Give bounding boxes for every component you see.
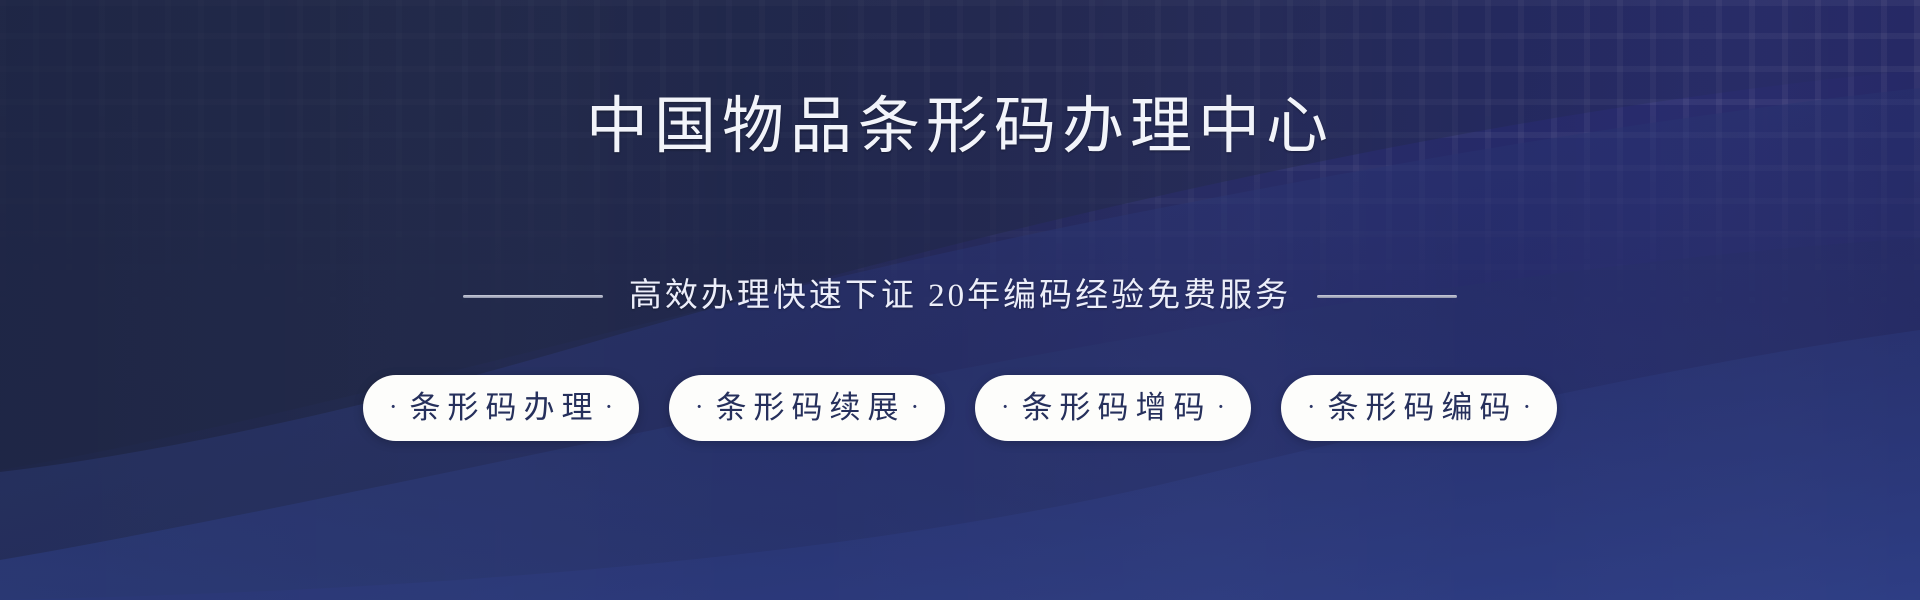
service-pill-row: · 条形码办理 · · 条形码续展 · · 条形码增码 · · 条形码编码 ·: [363, 375, 1557, 441]
right-rule-decoration: [1317, 295, 1457, 298]
bullet-dot-icon: ·: [911, 394, 920, 420]
bullet-dot-icon: ·: [695, 394, 704, 420]
bullet-dot-icon: ·: [1001, 394, 1010, 420]
banner-content: 中国物品条形码办理中心 高效办理快速下证 20年编码经验免费服务 · 条形码办理…: [0, 0, 1920, 600]
pill-label: 条形码增码: [1015, 392, 1212, 423]
pill-barcode-encode[interactable]: · 条形码编码 ·: [1281, 375, 1557, 441]
left-rule-decoration: [463, 295, 603, 298]
page-title: 中国物品条形码办理中心: [586, 96, 1334, 158]
bullet-dot-icon: ·: [1217, 394, 1226, 420]
pill-barcode-renew[interactable]: · 条形码续展 ·: [669, 375, 945, 441]
bullet-dot-icon: ·: [1307, 394, 1316, 420]
bullet-dot-icon: ·: [1523, 394, 1532, 420]
subtitle-text: 高效办理快速下证 20年编码经验免费服务: [629, 280, 1291, 313]
pill-label: 条形码续展: [709, 392, 906, 423]
subtitle-row: 高效办理快速下证 20年编码经验免费服务: [463, 280, 1457, 313]
pill-barcode-apply[interactable]: · 条形码办理 ·: [363, 375, 639, 441]
pill-barcode-add[interactable]: · 条形码增码 ·: [975, 375, 1251, 441]
pill-label: 条形码办理: [403, 392, 600, 423]
hero-banner: 中国物品条形码办理中心 高效办理快速下证 20年编码经验免费服务 · 条形码办理…: [0, 0, 1920, 600]
bullet-dot-icon: ·: [605, 394, 614, 420]
bullet-dot-icon: ·: [389, 394, 398, 420]
pill-label: 条形码编码: [1321, 392, 1518, 423]
